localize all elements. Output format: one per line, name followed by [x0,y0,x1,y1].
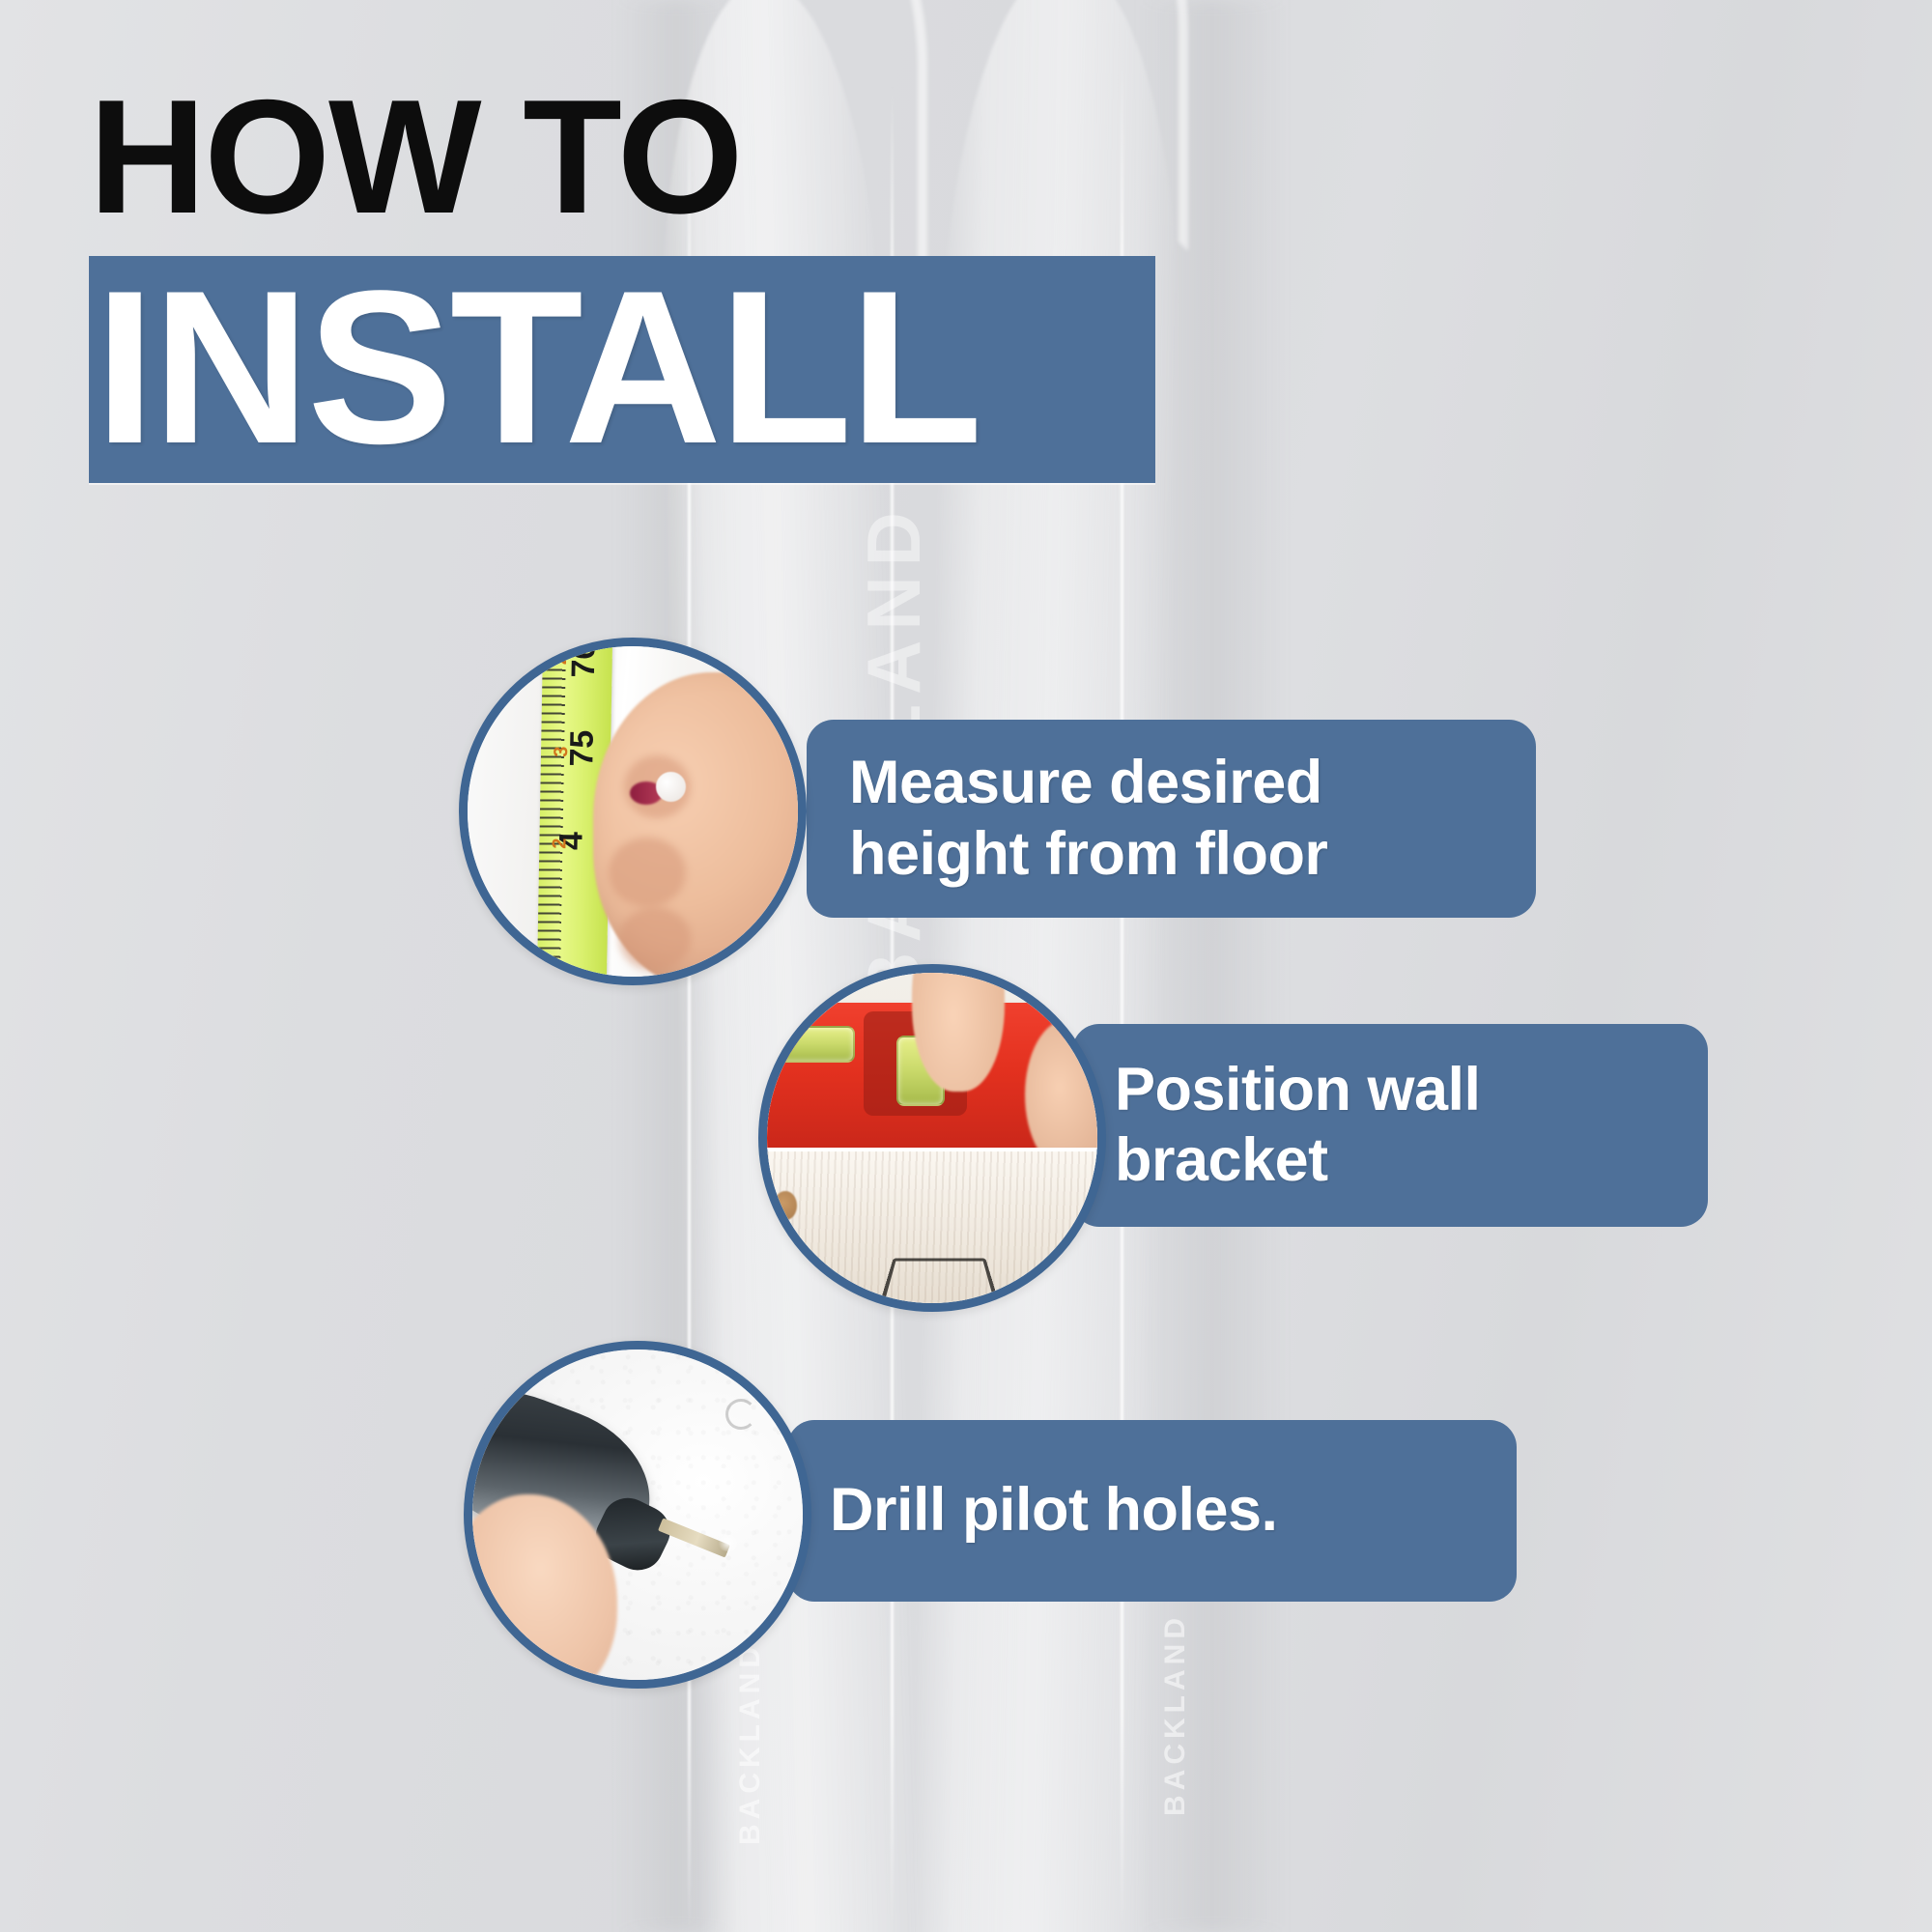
brand-logo-mark [875,1258,1003,1312]
page-title-line-2: INSTALL [95,259,980,475]
step-2-label-line-1: Position wall [1115,1055,1481,1125]
step-2-label-line-2: bracket [1115,1125,1481,1196]
step-2-image [758,964,1106,1312]
bubble-level-body [758,1003,1065,1151]
background-watermark-right: BACKLAND [1159,1613,1192,1816]
step-1-label: Measure desired height from floor [807,720,1536,918]
power-drill-photo [472,1350,803,1680]
step-1-label-line-2: height from floor [849,819,1327,890]
knuckle-3 [619,907,692,971]
page-title-line-1: HOW TO [89,75,742,238]
drill-dust [717,1535,740,1551]
bubble-level-photo [767,973,1097,1303]
tape-number-small-2: 3 [551,747,573,758]
tape-number-small-3: 2 [549,838,571,850]
step-2-label: Position wall bracket [1072,1024,1708,1227]
step-1-label-line-1: Measure desired [849,748,1327,818]
tape-number-small-1: 4 [553,654,575,666]
step-3-label-line-1: Drill pilot holes. [830,1475,1278,1546]
infographic-canvas: BACKLAND BACKLAND BACKLAND HOW TO INSTAL… [0,0,1932,1932]
knuckle-2 [609,838,686,907]
hand [593,672,807,985]
background-ski-tip-right [927,0,1188,251]
step-3-label: Drill pilot holes. [787,1420,1517,1602]
tape-measure-photo: 76 4 75 3 4 2 [468,646,798,977]
pencil-eraser [656,772,686,802]
tape-measure-ticks [537,638,567,985]
step-3-image [464,1341,811,1689]
step-1-image: 76 4 75 3 4 2 [459,638,807,985]
wood-knot [774,1191,797,1221]
level-vial-horizontal [766,1026,854,1063]
